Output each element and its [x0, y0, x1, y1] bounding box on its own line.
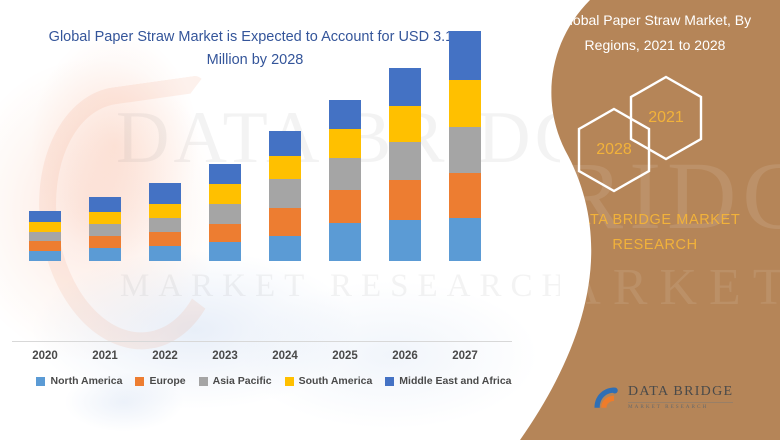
logo-subtitle: MARKET RESEARCH	[628, 402, 733, 410]
bar-segment[interactable]	[29, 232, 61, 241]
bar-segment[interactable]	[269, 208, 301, 236]
bar-segment[interactable]	[209, 242, 241, 261]
legend-swatch-icon	[285, 377, 294, 386]
hexagon-badges: 2028 2021	[565, 88, 775, 198]
x-axis-label: 2026	[375, 350, 435, 362]
bar-segment[interactable]	[149, 218, 181, 232]
x-axis-label: 2020	[15, 350, 75, 362]
bar-segment[interactable]	[389, 220, 421, 261]
bar-segment[interactable]	[89, 212, 121, 224]
stacked-bar[interactable]	[269, 131, 301, 261]
bar-group	[435, 31, 495, 261]
bar-segment[interactable]	[149, 204, 181, 218]
legend-item[interactable]: South America	[285, 375, 373, 387]
logo-title: DATA BRIDGE	[628, 385, 733, 399]
legend-swatch-icon	[385, 377, 394, 386]
bar-segment[interactable]	[449, 173, 481, 218]
infographic-page: DATA BRIDGE MARKET RESEARCH Global Paper…	[0, 0, 780, 440]
legend-label: Middle East and Africa	[399, 375, 511, 387]
chart-panel: DATA BRIDGE MARKET RESEARCH Global Paper…	[0, 0, 560, 440]
bar-segment[interactable]	[389, 68, 421, 106]
legend-label: North America	[50, 375, 122, 387]
chart-legend: North AmericaEuropeAsia PacificSouth Ame…	[14, 375, 534, 387]
bar-group	[135, 183, 195, 261]
bar-group	[75, 197, 135, 261]
hexagon-badge-2021: 2021	[627, 74, 705, 162]
x-axis-label: 2025	[315, 350, 375, 362]
bar-segment[interactable]	[149, 232, 181, 246]
bar-segment[interactable]	[209, 224, 241, 242]
bar-segment[interactable]	[89, 236, 121, 248]
bar-segment[interactable]	[449, 31, 481, 80]
legend-item[interactable]: Asia Pacific	[199, 375, 272, 387]
bar-segment[interactable]	[89, 197, 121, 212]
bar-segment[interactable]	[269, 131, 301, 156]
stacked-bar[interactable]	[89, 197, 121, 261]
bar-segment[interactable]	[209, 164, 241, 184]
legend-swatch-icon	[36, 377, 45, 386]
bar-segment[interactable]	[29, 222, 61, 232]
x-axis-label: 2024	[255, 350, 315, 362]
bar-segment[interactable]	[209, 204, 241, 224]
bar-segment[interactable]	[389, 142, 421, 180]
bar-segment[interactable]	[269, 236, 301, 261]
legend-item[interactable]: Middle East and Africa	[385, 375, 511, 387]
right-panel-brand: DATA BRIDGE MARKET RESEARCH	[540, 208, 770, 258]
bar-segment[interactable]	[329, 129, 361, 158]
bar-segment[interactable]	[329, 158, 361, 190]
right-panel-title: Global Paper Straw Market, By Regions, 2…	[540, 8, 770, 58]
plot-area: 20202021202220232024202520262027	[0, 0, 560, 360]
bar-group	[375, 68, 435, 261]
legend-label: Asia Pacific	[213, 375, 272, 387]
x-axis-label: 2021	[75, 350, 135, 362]
legend-label: Europe	[149, 375, 185, 387]
bar-segment[interactable]	[449, 218, 481, 261]
logo-text-block: DATA BRIDGE MARKET RESEARCH	[628, 385, 733, 410]
bar-segment[interactable]	[209, 184, 241, 204]
bar-segment[interactable]	[389, 180, 421, 220]
bar-segment[interactable]	[149, 246, 181, 261]
bar-group	[195, 164, 255, 261]
x-axis-label: 2022	[135, 350, 195, 362]
bar-segment[interactable]	[389, 106, 421, 142]
bar-segment[interactable]	[269, 179, 301, 208]
legend-swatch-icon	[135, 377, 144, 386]
stacked-bar[interactable]	[29, 211, 61, 261]
bar-segment[interactable]	[149, 183, 181, 204]
stacked-bar[interactable]	[209, 164, 241, 261]
bar-segment[interactable]	[89, 224, 121, 236]
stacked-bar[interactable]	[149, 183, 181, 261]
legend-item[interactable]: North America	[36, 375, 122, 387]
bar-group	[315, 100, 375, 261]
bar-group	[255, 131, 315, 261]
bar-segment[interactable]	[449, 80, 481, 127]
legend-swatch-icon	[199, 377, 208, 386]
bar-segment[interactable]	[29, 241, 61, 251]
stacked-bar[interactable]	[329, 100, 361, 261]
bar-group	[15, 211, 75, 261]
legend-label: South America	[299, 375, 373, 387]
bar-segment[interactable]	[329, 190, 361, 223]
bar-segment[interactable]	[89, 248, 121, 261]
bar-segment[interactable]	[449, 127, 481, 173]
bar-segment[interactable]	[29, 251, 61, 261]
bar-segment[interactable]	[29, 211, 61, 222]
legend-item[interactable]: Europe	[135, 375, 185, 387]
stacked-bar[interactable]	[449, 31, 481, 261]
bar-segment[interactable]	[329, 223, 361, 261]
axis-baseline	[12, 341, 512, 342]
bar-segment[interactable]	[269, 156, 301, 179]
data-bridge-logo: DATA BRIDGE MARKET RESEARCH	[590, 383, 733, 413]
hexagon-label-2021: 2021	[627, 74, 705, 162]
stacked-bar[interactable]	[389, 68, 421, 261]
bridge-arch-icon	[590, 383, 620, 413]
bar-segment[interactable]	[329, 100, 361, 129]
x-axis-label: 2023	[195, 350, 255, 362]
x-axis-label: 2027	[435, 350, 495, 362]
